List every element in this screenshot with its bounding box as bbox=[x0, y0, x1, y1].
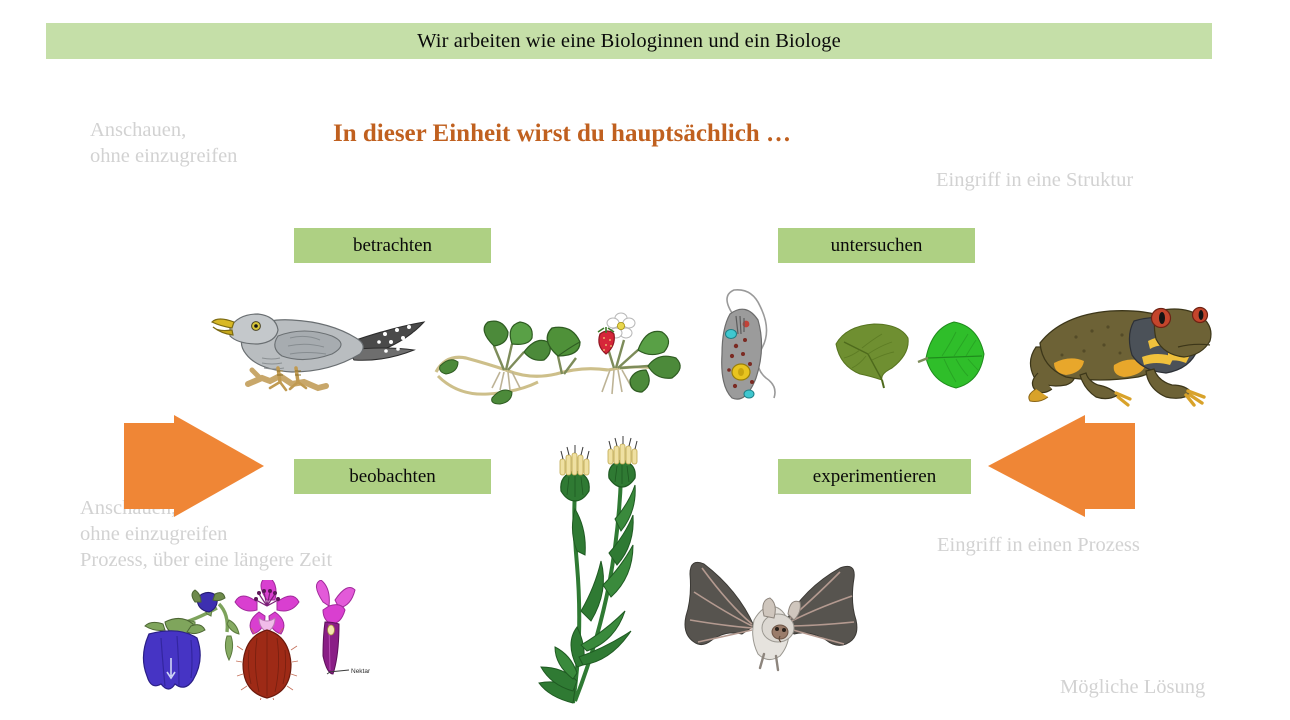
composite-flower-plant-illustration bbox=[535, 435, 685, 720]
bat-illustration bbox=[668, 550, 873, 675]
action-label-beobachten[interactable]: beobachten bbox=[294, 459, 491, 494]
action-label-experimentieren[interactable]: experimentieren bbox=[778, 459, 971, 494]
note-eingriff-prozess: Eingriff in einen Prozess bbox=[937, 532, 1140, 558]
action-label-text: beobachten bbox=[349, 466, 436, 488]
action-label-text: betrachten bbox=[353, 235, 432, 257]
frog-illustration bbox=[1018, 285, 1223, 410]
arrow-left-icon bbox=[124, 415, 264, 517]
single-cell-organism-illustration bbox=[700, 282, 800, 408]
page-title: Wir arbeiten wie eine Biologinnen und ei… bbox=[417, 30, 841, 53]
slide-title-banner: Wir arbeiten wie eine Biologinnen und ei… bbox=[46, 23, 1212, 59]
arrow-right-icon bbox=[988, 415, 1135, 517]
note-anschauen-top: Anschauen, ohne einzugreifen bbox=[90, 117, 237, 169]
strawberry-plant-illustration bbox=[432, 300, 694, 405]
action-label-betrachten[interactable]: betrachten bbox=[294, 228, 491, 263]
nektar-label: Nektar bbox=[351, 668, 370, 675]
action-label-text: experimentieren bbox=[813, 466, 936, 488]
flower-dissection-illustration: Nektar bbox=[135, 580, 370, 700]
unit-heading: In dieser Einheit wirst du hauptsächlich… bbox=[333, 112, 933, 156]
note-moegliche-loesung: Mögliche Lösung bbox=[1060, 674, 1205, 700]
action-label-untersuchen[interactable]: untersuchen bbox=[778, 228, 975, 263]
note-eingriff-struktur: Eingriff in eine Struktur bbox=[936, 167, 1133, 193]
two-leaves-illustration bbox=[826, 318, 996, 390]
cuckoo-bird-illustration bbox=[200, 298, 435, 398]
action-label-text: untersuchen bbox=[831, 235, 923, 257]
